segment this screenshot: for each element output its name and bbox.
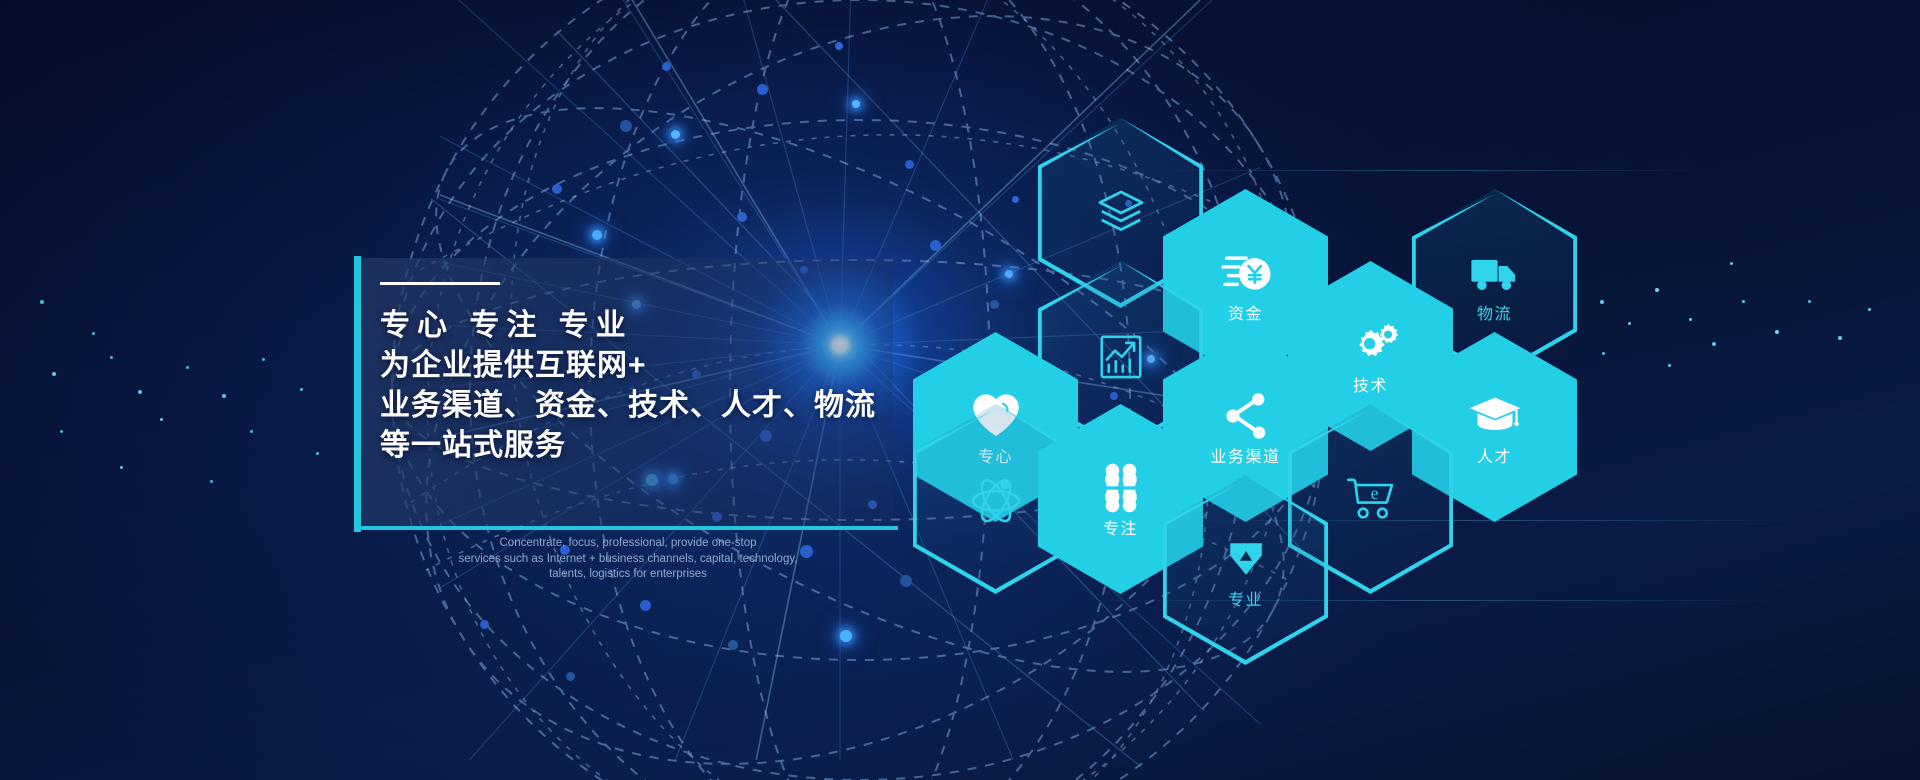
hero-banner: 专心 专注 专业 为企业提供互联网+ 业务渠道、资金、技术、人才、物流 等一站式… [0, 0, 1920, 780]
hex-professional[interactable]: 专业 [1163, 475, 1328, 665]
atom-icon [968, 471, 1024, 527]
hex-label-business-channels: 业务渠道 [1210, 450, 1280, 466]
svg-text:e: e [1370, 483, 1378, 503]
yen-coin-icon [1218, 245, 1274, 301]
growth-chart-icon [1093, 328, 1149, 384]
hex-label-logistics: 物流 [1477, 307, 1512, 323]
diamond-icon [1218, 531, 1274, 587]
hex-label-funds: 资金 [1228, 307, 1263, 323]
gears-icon [1343, 317, 1399, 373]
hex-label-focus: 专注 [1103, 522, 1138, 538]
hex-label-professional: 专业 [1228, 593, 1263, 609]
layers-icon [1093, 185, 1149, 241]
hexagon-grid: 资金 物流 [0, 0, 1920, 780]
clover-icon [1093, 460, 1149, 516]
share-nodes-icon [1218, 388, 1274, 444]
truck-icon [1467, 245, 1523, 301]
graduation-cap-icon [1467, 388, 1523, 444]
hex-label-talent: 人才 [1477, 450, 1512, 466]
shopping-cart-e-icon: e [1343, 471, 1399, 527]
hex-label-technology: 技术 [1353, 379, 1388, 395]
